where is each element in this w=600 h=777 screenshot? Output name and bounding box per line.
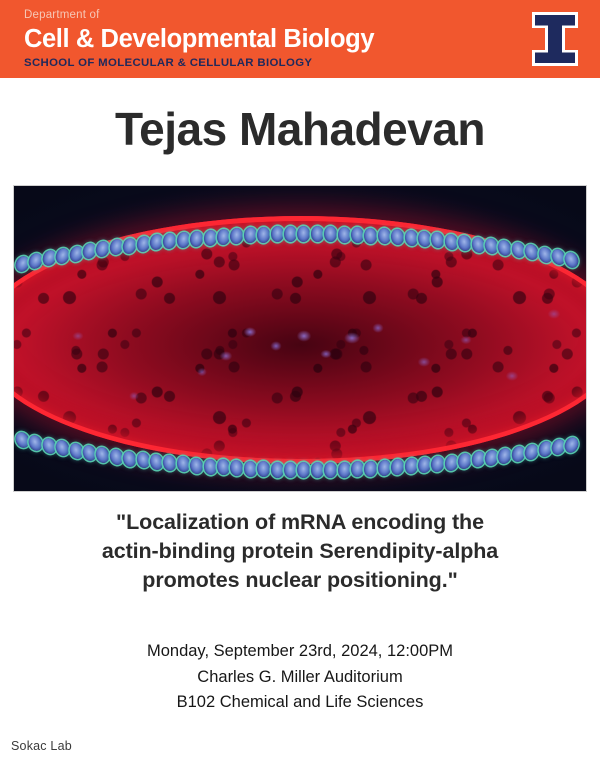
talk-title-line-1: "Localization of mRNA encoding the [22, 508, 578, 537]
cortical-nucleus [121, 236, 138, 255]
cortical-nucleus [270, 461, 284, 478]
cortical-nucleus [284, 226, 297, 242]
cortical-nucleus [337, 226, 351, 243]
cortical-nucleus [390, 228, 405, 246]
cortical-nucleus [297, 226, 310, 242]
cortical-nucleus [216, 228, 231, 246]
cortical-nucleus [284, 462, 297, 478]
cortical-nucleus [430, 231, 446, 249]
department-header-bar: Department of Cell & Developmental Biolo… [0, 0, 600, 78]
event-details: Monday, September 23rd, 2024, 12:00PM Ch… [0, 639, 600, 716]
cortical-nucleus [162, 232, 178, 250]
microscopy-figure [13, 185, 587, 492]
microscopy-canvas [14, 186, 586, 491]
cortical-nucleus [202, 229, 217, 247]
event-venue: Charles G. Miller Auditorium [0, 665, 600, 691]
cortical-nucleus [257, 226, 271, 243]
header-text-block: Department of Cell & Developmental Biolo… [24, 8, 374, 71]
school-name-label: SCHOOL OF MOLECULAR & CELLULAR BIOLOGY [24, 56, 374, 71]
talk-title-line-3: promotes nuclear positioning." [22, 566, 578, 595]
cortical-nucleus [324, 226, 338, 242]
cortical-nucleus [350, 226, 364, 243]
cortical-nucleus [243, 227, 257, 244]
cortical-nucleus [311, 226, 324, 242]
event-datetime: Monday, September 23rd, 2024, 12:00PM [0, 639, 600, 665]
talk-title-line-2: actin-binding protein Serendipity-alpha [22, 537, 578, 566]
department-name-label: Cell & Developmental Biology [24, 24, 374, 54]
department-prefix-label: Department of [24, 8, 374, 23]
cortical-nucleus [270, 226, 284, 243]
cortical-nucleus [403, 229, 418, 247]
cortical-nucleus [230, 227, 245, 244]
cortical-nucleus [456, 234, 473, 253]
talk-title: "Localization of mRNA encoding the actin… [22, 508, 578, 595]
cortical-nucleus [377, 227, 392, 244]
event-address: B102 Chemical and Life Sciences [0, 690, 600, 716]
lab-credit-label: Sokac Lab [11, 739, 72, 753]
illinois-block-i-logo-icon [527, 10, 583, 68]
cortical-nucleus [189, 229, 205, 247]
seminar-flyer: Department of Cell & Developmental Biolo… [0, 0, 600, 777]
cortical-nucleus [563, 435, 581, 455]
cortical-nucleus [364, 227, 379, 244]
cortical-nuclei-row-bottom [14, 432, 587, 462]
cortical-nucleus [311, 462, 324, 478]
speaker-name-heading: Tejas Mahadevan [0, 100, 600, 158]
cortical-nucleus [337, 461, 351, 478]
cortical-nuclei-row-top [14, 226, 587, 256]
